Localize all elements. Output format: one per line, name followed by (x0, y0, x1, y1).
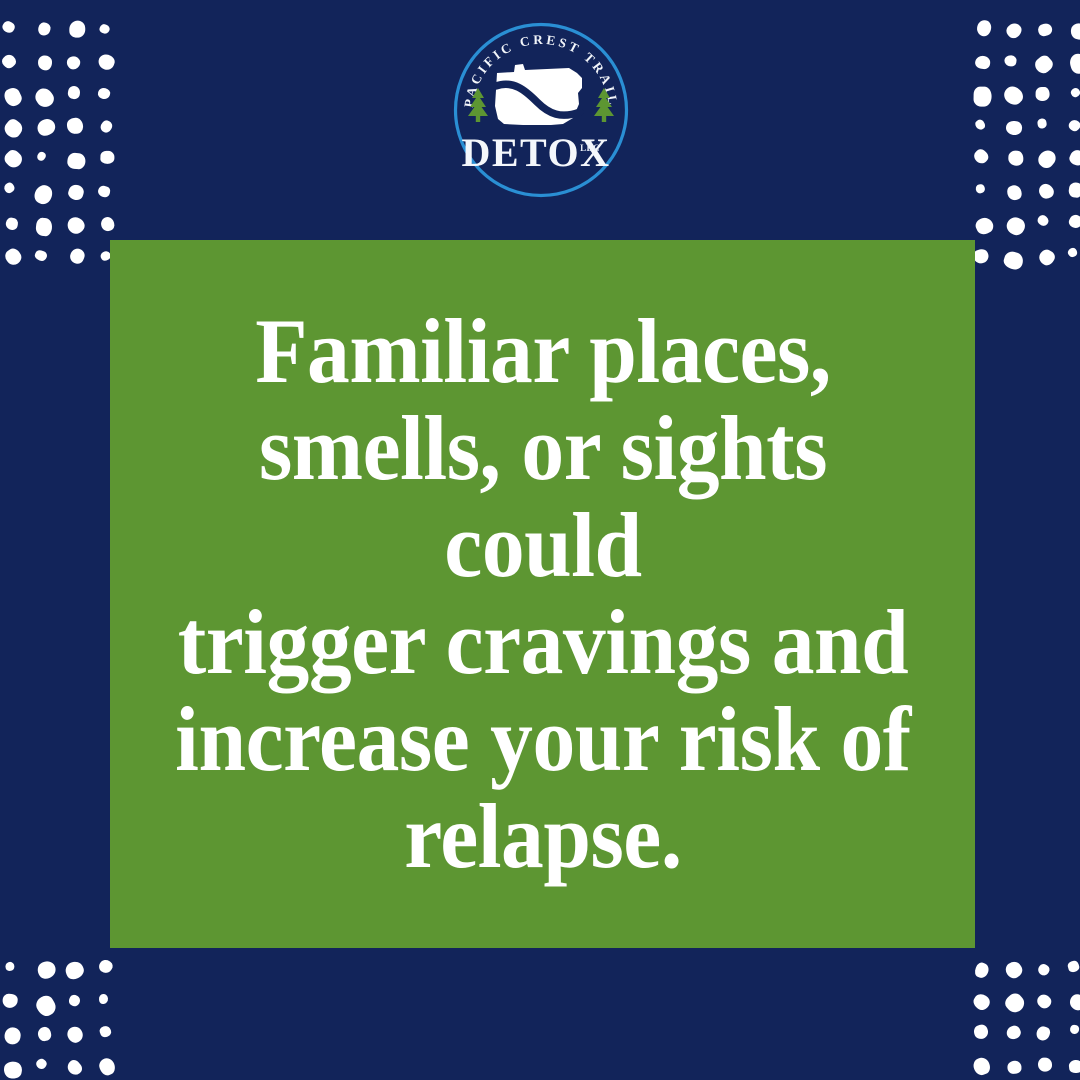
decorative-dot (972, 1056, 993, 1077)
decorative-dot (67, 117, 84, 134)
quote-panel: Familiar places,smells, or sights couldt… (110, 240, 975, 948)
decorative-dot (33, 993, 59, 1019)
decorative-dot (97, 184, 112, 198)
decorative-dot (973, 961, 991, 980)
pacific-crest-trail-detox-logo: PACIFIC CREST TRAIL (451, 20, 631, 200)
decorative-dot (1037, 22, 1054, 38)
decorative-dot (1004, 55, 1017, 67)
decorative-dot (99, 215, 116, 232)
decorative-dot (67, 993, 82, 1008)
decorative-dot (2, 117, 26, 141)
decorative-dot (1008, 151, 1024, 166)
decorative-dot (100, 151, 115, 164)
decorative-dot (5, 218, 19, 232)
decorative-dot (64, 959, 87, 982)
dot-pattern-bottom-right (970, 940, 1080, 1080)
decorative-dot (971, 992, 993, 1013)
quote-line: trigger cravings and (177, 591, 908, 693)
decorative-dot (971, 147, 990, 166)
decorative-dot (3, 181, 16, 194)
quote-line: Familiar places, (255, 300, 831, 402)
decorative-dot (2, 86, 25, 110)
decorative-dot (1007, 1060, 1022, 1073)
decorative-dot (38, 55, 53, 70)
decorative-dot (975, 183, 986, 194)
social-graphic-canvas: PACIFIC CREST TRAIL (0, 0, 1080, 1080)
decorative-dot (2, 1060, 23, 1080)
decorative-dot (37, 1026, 53, 1042)
decorative-dot (1067, 148, 1080, 168)
decorative-dot (35, 958, 58, 981)
decorative-dot (3, 994, 19, 1009)
decorative-dot (34, 116, 58, 139)
decorative-dot (34, 1056, 48, 1070)
decorative-dot (1004, 214, 1028, 237)
quote-line: relapse. (404, 785, 681, 887)
decorative-dot (1036, 247, 1057, 267)
decorative-dot (1069, 1024, 1080, 1035)
decorative-dot (1036, 86, 1050, 100)
decorative-dot (1068, 1059, 1080, 1073)
decorative-dot (68, 246, 87, 265)
decorative-dot (3, 247, 24, 268)
decorative-dot (65, 1058, 85, 1078)
decorative-dot (1005, 120, 1023, 136)
decorative-dot (64, 214, 87, 237)
quote-text: Familiar places,smells, or sights couldt… (163, 303, 922, 885)
decorative-dot (1036, 182, 1056, 202)
decorative-dot (98, 1024, 113, 1039)
decorative-dot (972, 1023, 989, 1040)
dot-pattern-top-right (970, 0, 1080, 300)
decorative-dot (65, 53, 83, 71)
decorative-dot (64, 1024, 85, 1045)
decorative-dot (98, 1056, 118, 1077)
decorative-dot (1035, 992, 1055, 1012)
decorative-dot (67, 85, 81, 100)
decorative-dot (1068, 52, 1080, 76)
decorative-dot (976, 20, 992, 37)
decorative-dot (1033, 53, 1056, 76)
decorative-dot (1005, 1023, 1024, 1041)
logo-llc-suffix: LLC (580, 143, 600, 153)
decorative-dot (974, 87, 992, 107)
decorative-dot (67, 152, 86, 170)
decorative-dot (32, 85, 57, 110)
decorative-dot (1, 19, 17, 35)
decorative-dot (32, 182, 55, 206)
decorative-dot (36, 150, 48, 163)
decorative-dot (1002, 959, 1024, 981)
decorative-dot (67, 183, 85, 202)
decorative-dot (1067, 991, 1080, 1013)
decorative-dot (1036, 118, 1046, 129)
decorative-dot (1035, 1025, 1052, 1042)
decorative-dot (973, 117, 986, 131)
decorative-dot (1068, 181, 1080, 198)
decorative-dot (34, 217, 52, 237)
decorative-dot (974, 215, 996, 237)
decorative-dot (1067, 213, 1080, 230)
quote-line: smells, or sights could (258, 397, 826, 596)
decorative-dot (1005, 183, 1024, 202)
decorative-dot (96, 53, 116, 72)
decorative-dot (1067, 117, 1080, 132)
decorative-dot (96, 958, 114, 976)
decorative-dot (1070, 22, 1080, 41)
decorative-dot (1069, 86, 1080, 98)
decorative-dot (1067, 960, 1080, 973)
decorative-dot (34, 250, 48, 263)
decorative-dot (1001, 83, 1027, 109)
decorative-dot (1067, 246, 1080, 259)
decorative-dot (1036, 962, 1052, 978)
decorative-dot (37, 22, 52, 38)
decorative-dot (4, 961, 16, 973)
decorative-dot (69, 21, 86, 38)
decorative-dot (2, 147, 25, 170)
decorative-dot (1002, 250, 1025, 272)
decorative-dot (97, 87, 112, 101)
decorative-dot (1035, 147, 1059, 171)
decorative-dot (99, 994, 109, 1004)
decorative-dot (99, 23, 111, 35)
oregon-state-shape-icon (495, 64, 582, 125)
decorative-dot (3, 1026, 22, 1046)
quote-line: increase your risk of (175, 688, 911, 790)
decorative-dot (99, 119, 115, 135)
decorative-dot (1, 53, 19, 71)
dot-pattern-bottom-left (0, 940, 130, 1080)
decorative-dot (1036, 213, 1051, 228)
decorative-dot (1002, 991, 1027, 1016)
decorative-dot (1004, 20, 1025, 41)
decorative-dot (1038, 1058, 1052, 1073)
decorative-dot (974, 54, 990, 69)
